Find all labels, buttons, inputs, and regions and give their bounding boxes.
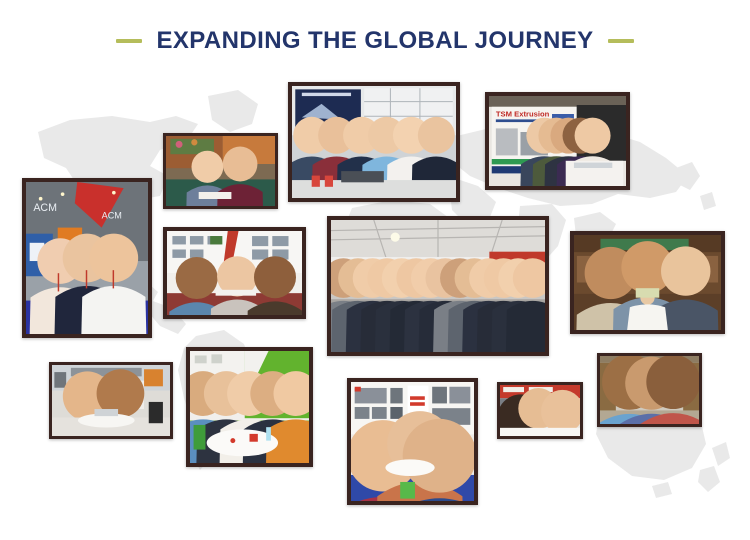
photo-office-group-four-image bbox=[574, 235, 721, 330]
photo-tsm-extrusion-booth-image: TSM Extrusion bbox=[489, 96, 626, 186]
photo-meeting-india-image bbox=[167, 231, 302, 315]
photo-delegation-laptop[interactable] bbox=[288, 82, 460, 202]
photo-factory-visit-three-image bbox=[600, 356, 699, 424]
svg-text:TSM Extrusion: TSM Extrusion bbox=[496, 110, 550, 119]
collage-page: EXPANDING THE GLOBAL JOURNEY ACM ACM bbox=[0, 0, 750, 540]
svg-text:ACM: ACM bbox=[33, 202, 57, 214]
photo-two-men-desk[interactable] bbox=[49, 362, 173, 439]
photo-negotiation-table[interactable] bbox=[497, 382, 583, 439]
title-dash-left bbox=[116, 39, 142, 43]
page-title: EXPANDING THE GLOBAL JOURNEY bbox=[156, 29, 593, 53]
photo-office-group-four[interactable] bbox=[570, 231, 725, 334]
photo-china-expo-booth[interactable]: ACM ACM bbox=[22, 178, 152, 338]
photo-team-exhibition-hall[interactable] bbox=[327, 216, 549, 356]
photo-green-booth-five[interactable] bbox=[186, 347, 313, 467]
photo-two-men-cafe-image bbox=[166, 136, 275, 206]
photo-factory-visit-three[interactable] bbox=[597, 353, 702, 427]
photo-team-exhibition-hall-image bbox=[331, 220, 545, 352]
photo-delegation-laptop-image bbox=[292, 86, 456, 198]
photo-booth-meeting-three-people-image bbox=[351, 382, 474, 501]
photo-green-booth-five-image bbox=[190, 351, 309, 463]
title-dash-right bbox=[608, 39, 634, 43]
photo-tsm-extrusion-booth[interactable]: TSM Extrusion bbox=[485, 92, 630, 190]
photo-two-men-desk-image bbox=[52, 365, 170, 436]
photo-booth-meeting-three-people[interactable] bbox=[347, 378, 478, 505]
photo-china-expo-booth-image: ACM ACM bbox=[26, 182, 148, 334]
photo-meeting-india[interactable] bbox=[163, 227, 306, 319]
photo-negotiation-table-image bbox=[500, 385, 580, 436]
page-title-row: EXPANDING THE GLOBAL JOURNEY bbox=[0, 24, 750, 58]
photo-two-men-cafe[interactable] bbox=[163, 133, 278, 209]
svg-text:ACM: ACM bbox=[102, 210, 122, 220]
